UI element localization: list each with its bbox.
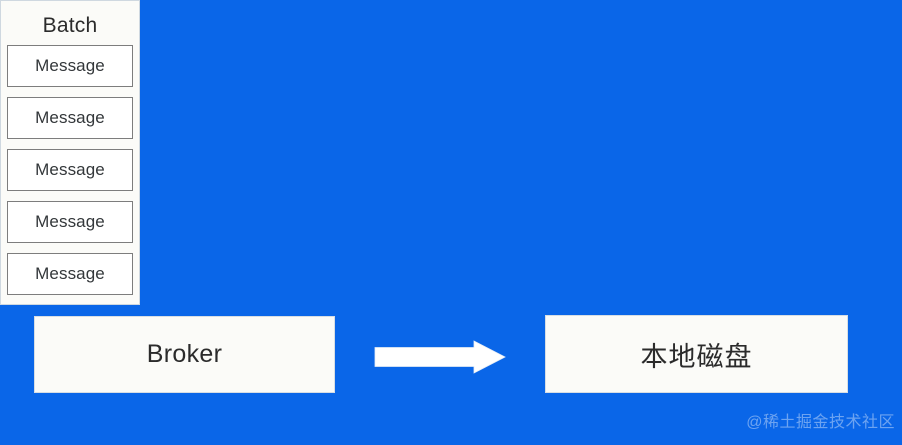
batch-container: Batch Message Message Message Message Me…: [0, 0, 140, 305]
message-list: Message Message Message Message Message: [7, 45, 133, 295]
batch-title: Batch: [43, 7, 98, 45]
broker-node: Broker: [34, 316, 335, 393]
diagram-canvas: Batch Message Message Message Message Me…: [0, 0, 902, 445]
watermark-text: @稀土掘金技术社区: [746, 408, 895, 432]
message-box: Message: [7, 201, 133, 243]
arrow-right-block-icon: [374, 340, 507, 374]
message-box: Message: [7, 45, 133, 87]
message-box: Message: [7, 253, 133, 295]
local-disk-node: 本地磁盘: [545, 315, 848, 393]
message-box: Message: [7, 149, 133, 191]
message-box: Message: [7, 97, 133, 139]
